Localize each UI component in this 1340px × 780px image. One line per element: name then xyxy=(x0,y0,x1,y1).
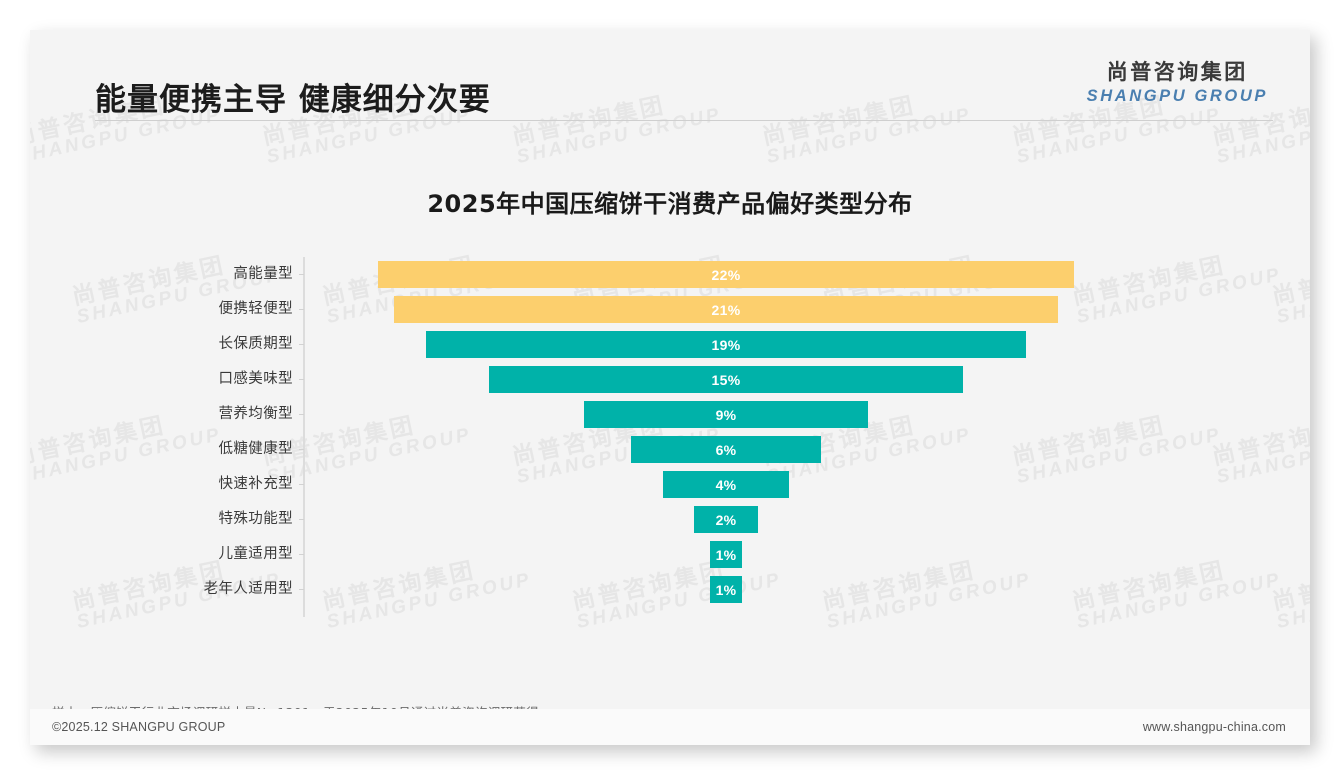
brand-logo: 尚普咨询集团 SHANGPU GROUP xyxy=(1087,62,1268,105)
axis-tick xyxy=(299,344,304,345)
chart-container: 2025年中国压缩饼干消费产品偏好类型分布 高能量型22%便携轻便型21%长保质… xyxy=(30,127,1310,662)
bar-track: 2% xyxy=(305,502,1305,537)
bar-value-label: 1% xyxy=(716,547,737,563)
funnel-row: 特殊功能型2% xyxy=(30,502,1310,537)
funnel-bar[interactable]: 15% xyxy=(489,366,963,393)
brand-name-en: SHANGPU GROUP xyxy=(1087,88,1268,105)
funnel-bar[interactable]: 1% xyxy=(710,576,742,603)
funnel-rows: 高能量型22%便携轻便型21%长保质期型19%口感美味型15%营养均衡型9%低糖… xyxy=(30,257,1310,607)
category-label: 长保质期型 xyxy=(30,327,293,362)
bar-track: 15% xyxy=(305,362,1305,397)
bar-value-label: 21% xyxy=(712,302,741,318)
axis-tick xyxy=(299,519,304,520)
bar-value-label: 9% xyxy=(716,407,737,423)
axis-tick xyxy=(299,379,304,380)
bar-value-label: 1% xyxy=(716,582,737,598)
slide-canvas: 尚普咨询集团SHANGPU GROUP尚普咨询集团SHANGPU GROUP尚普… xyxy=(30,30,1310,745)
website-link[interactable]: www.shangpu-china.com xyxy=(1143,720,1286,734)
funnel-bar[interactable]: 9% xyxy=(584,401,868,428)
funnel-chart-plot: 高能量型22%便携轻便型21%长保质期型19%口感美味型15%营养均衡型9%低糖… xyxy=(30,257,1310,642)
category-label: 营养均衡型 xyxy=(30,397,293,432)
bar-track: 1% xyxy=(305,572,1305,607)
axis-tick xyxy=(299,484,304,485)
funnel-row: 儿童适用型1% xyxy=(30,537,1310,572)
bar-track: 21% xyxy=(305,292,1305,327)
funnel-row: 长保质期型19% xyxy=(30,327,1310,362)
bar-value-label: 2% xyxy=(716,512,737,528)
funnel-row: 快速补充型4% xyxy=(30,467,1310,502)
bar-value-label: 15% xyxy=(712,372,741,388)
brand-name-cn: 尚普咨询集团 xyxy=(1087,62,1268,83)
axis-tick xyxy=(299,554,304,555)
bar-track: 19% xyxy=(305,327,1305,362)
chart-title: 2025年中国压缩饼干消费产品偏好类型分布 xyxy=(30,184,1310,219)
bar-track: 22% xyxy=(305,257,1305,292)
axis-tick xyxy=(299,309,304,310)
axis-tick xyxy=(299,449,304,450)
category-label: 快速补充型 xyxy=(30,467,293,502)
funnel-row: 便携轻便型21% xyxy=(30,292,1310,327)
axis-tick xyxy=(299,589,304,590)
bar-value-label: 6% xyxy=(716,442,737,458)
axis-tick xyxy=(299,414,304,415)
category-label: 高能量型 xyxy=(30,257,293,292)
bar-track: 4% xyxy=(305,467,1305,502)
bar-value-label: 22% xyxy=(712,267,741,283)
category-label: 老年人适用型 xyxy=(30,572,293,607)
funnel-row: 低糖健康型6% xyxy=(30,432,1310,467)
funnel-bar[interactable]: 22% xyxy=(378,261,1073,288)
bar-track: 9% xyxy=(305,397,1305,432)
bar-track: 1% xyxy=(305,537,1305,572)
category-label: 特殊功能型 xyxy=(30,502,293,537)
funnel-row: 高能量型22% xyxy=(30,257,1310,292)
funnel-bar[interactable]: 19% xyxy=(426,331,1026,358)
header-divider xyxy=(95,120,1273,121)
copyright-text: ©2025.12 SHANGPU GROUP xyxy=(52,720,225,734)
slide-footer: ©2025.12 SHANGPU GROUP www.shangpu-china… xyxy=(30,709,1310,745)
category-label: 便携轻便型 xyxy=(30,292,293,327)
funnel-row: 营养均衡型9% xyxy=(30,397,1310,432)
funnel-bar[interactable]: 6% xyxy=(631,436,821,463)
page-title: 能量便携主导 健康细分次要 xyxy=(95,74,491,119)
slide-header: 能量便携主导 健康细分次要 尚普咨询集团 SHANGPU GROUP xyxy=(30,30,1310,127)
bar-value-label: 19% xyxy=(712,337,741,353)
funnel-row: 老年人适用型1% xyxy=(30,572,1310,607)
bar-value-label: 4% xyxy=(716,477,737,493)
category-label: 口感美味型 xyxy=(30,362,293,397)
funnel-bar[interactable]: 21% xyxy=(394,296,1058,323)
funnel-bar[interactable]: 4% xyxy=(663,471,789,498)
funnel-row: 口感美味型15% xyxy=(30,362,1310,397)
funnel-bar[interactable]: 2% xyxy=(694,506,757,533)
category-label: 低糖健康型 xyxy=(30,432,293,467)
axis-tick xyxy=(299,274,304,275)
funnel-bar[interactable]: 1% xyxy=(710,541,742,568)
category-label: 儿童适用型 xyxy=(30,537,293,572)
bar-track: 6% xyxy=(305,432,1305,467)
